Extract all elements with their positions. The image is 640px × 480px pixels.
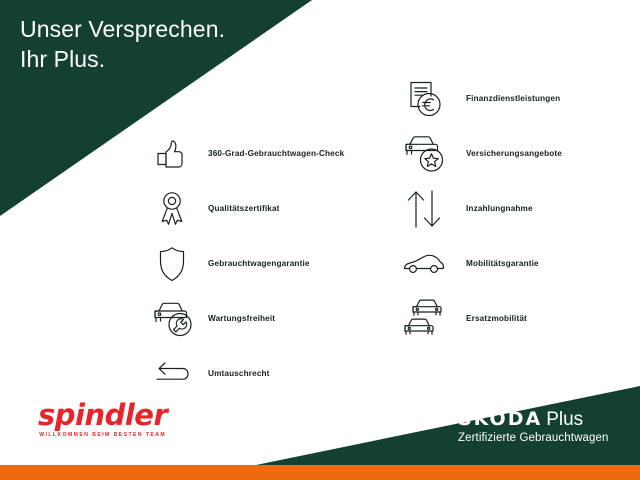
- car-wrench-icon: [148, 297, 196, 341]
- up-down-arrows-icon: [400, 187, 448, 231]
- feature-item-financial-services: Finanzdienstleistungen: [400, 71, 562, 126]
- feature-label: Gebrauchtwagengarantie: [208, 259, 310, 268]
- feature-label: Wartungsfreiheit: [208, 314, 275, 323]
- car-star-icon: [400, 132, 448, 176]
- feature-label: Finanzdienstleistungen: [466, 94, 560, 103]
- feature-label: Ersatzmobilität: [466, 314, 527, 323]
- feature-item-replacement-mobility: Ersatzmobilität: [400, 291, 562, 346]
- promo-banner: Unser Versprechen. Ihr Plus. 360-Grad-Ge…: [0, 0, 640, 480]
- feature-item-return-right: Umtauschrecht: [148, 346, 344, 401]
- document-euro-icon: [400, 77, 448, 121]
- feature-label: Umtauschrecht: [208, 369, 270, 378]
- award-rosette-icon: [148, 187, 196, 231]
- page-title: Unser Versprechen. Ihr Plus.: [20, 14, 225, 74]
- dealer-logo-tagline: WILLKOMMEN BEIM BESTEN TEAM: [38, 432, 167, 438]
- dealer-logo: spindler WILLKOMMEN BEIM BESTEN TEAM: [38, 400, 167, 438]
- feature-label: Inzahlungnahme: [466, 204, 533, 213]
- feature-item-used-car-warranty: Gebrauchtwagengarantie: [148, 236, 344, 291]
- brand-logo-mark: ŠKODA: [458, 408, 542, 430]
- shield-icon: [148, 242, 196, 286]
- feature-label: Qualitätszertifikat: [208, 204, 280, 213]
- feature-item-360-check: 360-Grad-Gebrauchtwagen-Check: [148, 126, 344, 181]
- feature-item-insurance-offers: Versicherungsangebote: [400, 126, 562, 181]
- feature-label: 360-Grad-Gebrauchtwagen-Check: [208, 149, 344, 158]
- feature-item-mobility-guarantee: Mobilitätsgarantie: [400, 236, 562, 291]
- headline-line-1: Unser Versprechen.: [20, 16, 225, 42]
- feature-item-quality-certificate: Qualitätszertifikat: [148, 181, 344, 236]
- feature-item-maintenance-free: Wartungsfreiheit: [148, 291, 344, 346]
- dealer-logo-wordmark: spindler: [38, 400, 167, 430]
- feature-item-trade-in: Inzahlungnahme: [400, 181, 562, 236]
- orange-accent-bar: [0, 465, 640, 480]
- two-cars-icon: [400, 297, 448, 341]
- brand-logo-subtitle: Zertifizierte Gebrauchtwagen: [458, 431, 608, 445]
- brand-logo: ŠKODAPlus Zertifizierte Gebrauchtwagen: [458, 409, 608, 445]
- feature-label: Mobilitätsgarantie: [466, 259, 539, 268]
- return-arrow-icon: [148, 352, 196, 396]
- feature-list-right: Finanzdienstleistungen Versicherungsange…: [400, 71, 562, 346]
- headline-line-2: Ihr Plus.: [20, 44, 225, 74]
- feature-list-left: 360-Grad-Gebrauchtwagen-Check Qualitätsz…: [148, 126, 344, 401]
- car-side-icon: [400, 242, 448, 286]
- brand-logo-plus: Plus: [546, 409, 583, 430]
- thumbs-up-icon: [148, 132, 196, 176]
- feature-label: Versicherungsangebote: [466, 149, 562, 158]
- brand-logo-line-1: ŠKODAPlus: [458, 409, 608, 430]
